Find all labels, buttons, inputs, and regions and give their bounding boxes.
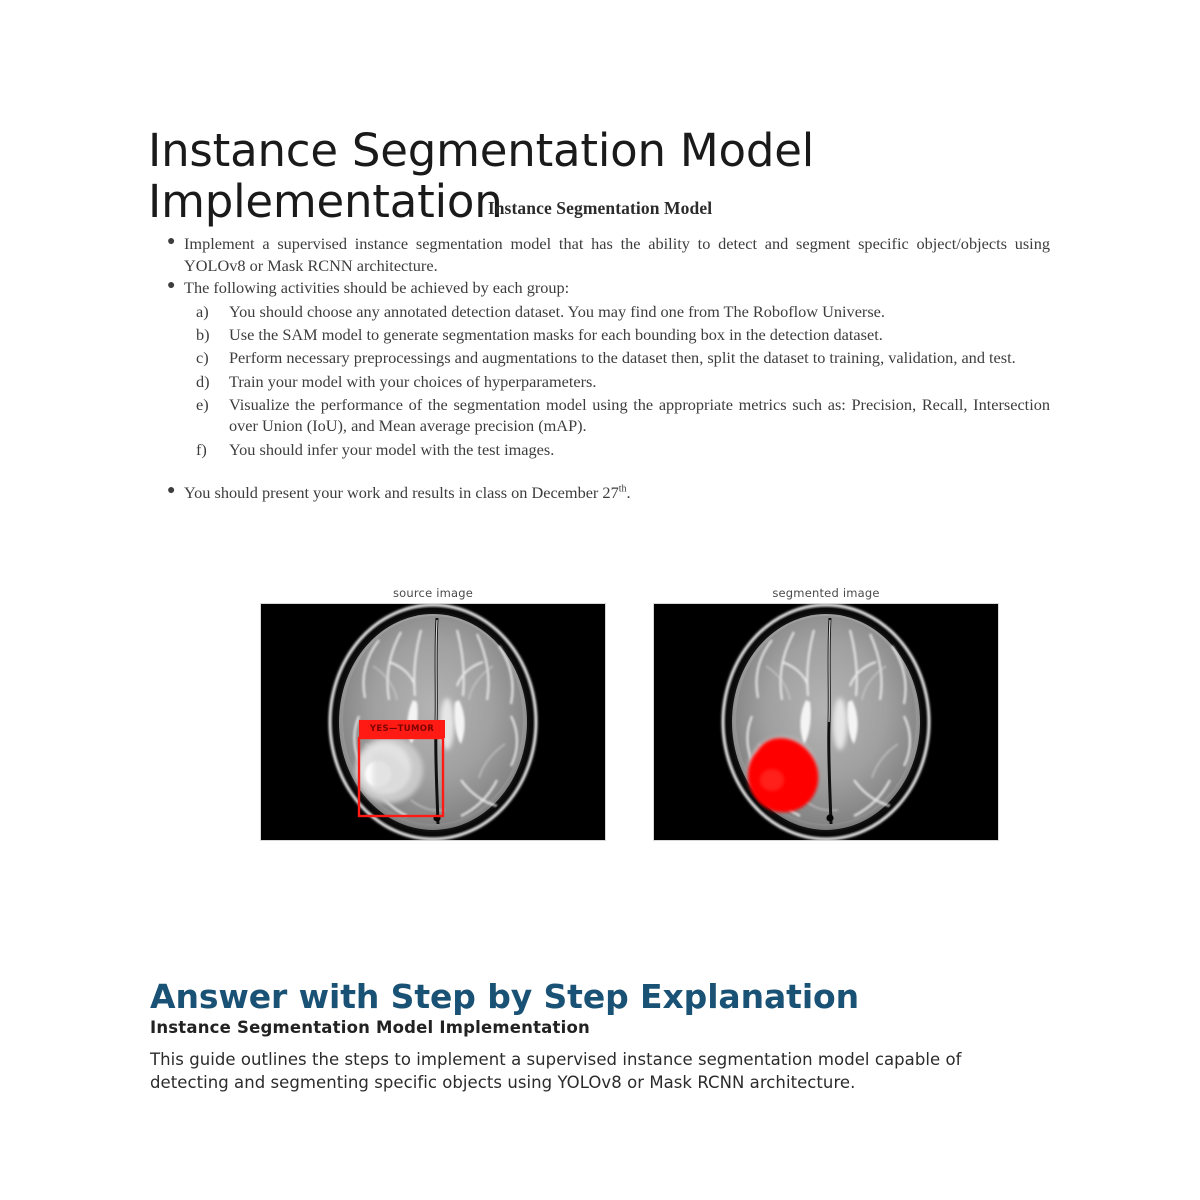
due-date-superscript: th <box>619 484 627 495</box>
sub-item-text: Train your model with your choices of hy… <box>229 372 596 391</box>
answer-subheading: Instance Segmentation Model Implementati… <box>150 1018 1050 1037</box>
assignment-bullet-text: Implement a supervised instance segmenta… <box>184 234 1050 275</box>
sub-item-text: Visualize the performance of the segment… <box>229 395 1050 436</box>
assignment-bullet-list: ● Implement a supervised instance segmen… <box>150 233 1050 504</box>
sub-item-marker: c) <box>196 347 224 369</box>
figure-row: source image <box>221 566 958 828</box>
mri-panel-segmented <box>654 604 998 840</box>
sub-item-text: Perform necessary preprocessings and aug… <box>229 348 1016 367</box>
assignment-sub-item-c: c) Perform necessary preprocessings and … <box>184 347 1050 369</box>
bullet-dot-icon: ● <box>167 232 175 252</box>
sub-item-marker: f) <box>196 439 224 461</box>
figure-caption-segmented: segmented image <box>654 582 998 604</box>
assignment-sub-item-e: e) Visualize the performance of the segm… <box>184 394 1050 437</box>
sub-item-marker: e) <box>196 394 224 416</box>
assignment-sub-item-a: a) You should choose any annotated detec… <box>184 301 1050 323</box>
assignment-sub-list: a) You should choose any annotated detec… <box>184 301 1050 460</box>
assignment-sub-item-b: b) Use the SAM model to generate segment… <box>184 324 1050 346</box>
sub-item-marker: b) <box>196 324 224 346</box>
sub-item-marker: a) <box>196 301 224 323</box>
figure-segmented-image: segmented image <box>654 582 998 840</box>
mri-panel-source: YES—TUMOR <box>261 604 605 840</box>
answer-body-paragraph: This guide outlines the steps to impleme… <box>150 1048 1045 1095</box>
document-page: Instance Segmentation Model Implementati… <box>0 0 1200 1200</box>
due-date-period: . <box>627 483 631 502</box>
bullet-dot-icon: ● <box>167 481 175 501</box>
assignment-due-date-item: ● You should present your work and resul… <box>150 482 1050 504</box>
assignment-heading: Instance Segmentation Model <box>150 198 1050 219</box>
sub-item-text: Use the SAM model to generate segmentati… <box>229 325 883 344</box>
mri-axial-brain-segmented-svg <box>654 604 998 840</box>
sub-item-marker: d) <box>196 371 224 393</box>
sub-item-text: You should infer your model with the tes… <box>229 440 554 459</box>
assignment-bullet-item: ● Implement a supervised instance segmen… <box>150 233 1050 276</box>
bounding-box-label-background <box>359 720 445 738</box>
figure-source-image: source image <box>261 582 605 840</box>
assignment-sub-item-d: d) Train your model with your choices of… <box>184 371 1050 393</box>
figure-caption-source: source image <box>261 582 605 604</box>
assignment-bullet-item: ● The following activities should be ach… <box>150 277 1050 460</box>
sub-item-text: You should choose any annotated detectio… <box>229 302 885 321</box>
assignment-scan-block: Instance Segmentation Model ● Implement … <box>150 198 1050 505</box>
assignment-bullet-text: The following activities should be achie… <box>184 278 569 297</box>
bullet-dot-icon: ● <box>167 276 175 296</box>
mri-axial-brain-source-svg <box>261 604 605 840</box>
due-date-text: You should present your work and results… <box>184 483 619 502</box>
answer-heading: Answer with Step by Step Explanation <box>150 977 1050 1016</box>
assignment-sub-item-f: f) You should infer your model with the … <box>184 439 1050 461</box>
